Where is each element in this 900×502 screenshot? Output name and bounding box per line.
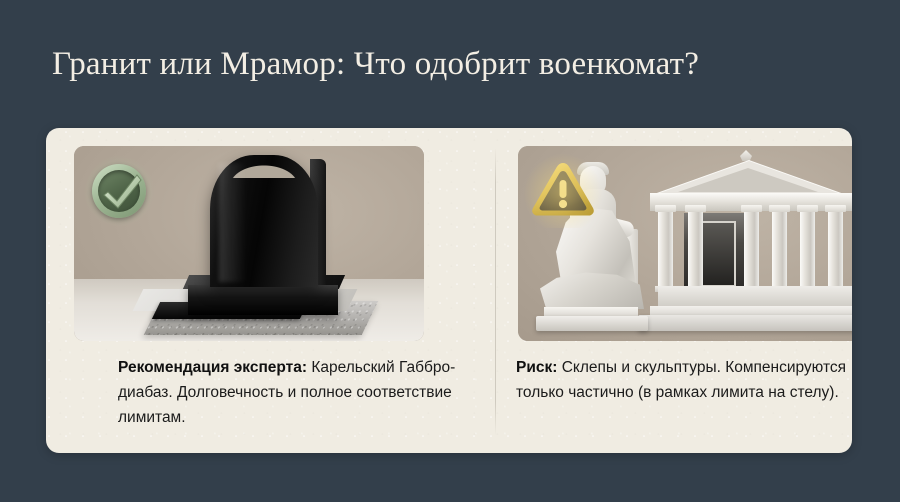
slide-root: Гранит или Мрамор: Что одобрит военкомат…	[0, 0, 900, 502]
warning-triangle-icon	[530, 160, 596, 220]
pediment-tympanum	[678, 168, 818, 192]
marble-caption-lead: Риск:	[516, 359, 557, 376]
podium	[658, 286, 852, 308]
acroterion	[740, 150, 752, 161]
column	[772, 211, 787, 287]
column	[828, 211, 843, 287]
marble-image-plate	[518, 146, 852, 341]
column	[800, 211, 815, 287]
check-circle-icon	[88, 160, 150, 222]
granite-caption-lead: Рекомендация эксперта:	[118, 359, 307, 376]
page-title: Гранит или Мрамор: Что одобрит военкомат…	[52, 44, 852, 84]
card-marble[interactable]: Риск: Склепы и скульптуры. Компенсируютс…	[496, 128, 852, 453]
warning-glow	[522, 152, 604, 228]
marble-caption: Риск: Склепы и скульптуры. Компенсируютс…	[516, 355, 852, 405]
granite-caption: Рекомендация эксперта: Карельский Габбро…	[118, 355, 474, 430]
plinth	[188, 285, 338, 315]
column	[658, 211, 673, 287]
column	[744, 211, 759, 287]
granite-image-plate	[74, 146, 424, 341]
mausoleum-base	[638, 315, 852, 331]
mausoleum	[644, 155, 852, 331]
column	[688, 211, 703, 287]
marble-caption-body: Склепы и скульптуры. Компенсируются толь…	[516, 359, 846, 401]
granite-stele	[210, 155, 318, 287]
statue-base	[536, 316, 648, 331]
check-mark-glyph	[102, 171, 142, 211]
card-granite[interactable]: Рекомендация эксперта: Карельский Габбро…	[46, 128, 495, 453]
comparison-panel: Рекомендация эксперта: Карельский Габбро…	[46, 128, 852, 453]
